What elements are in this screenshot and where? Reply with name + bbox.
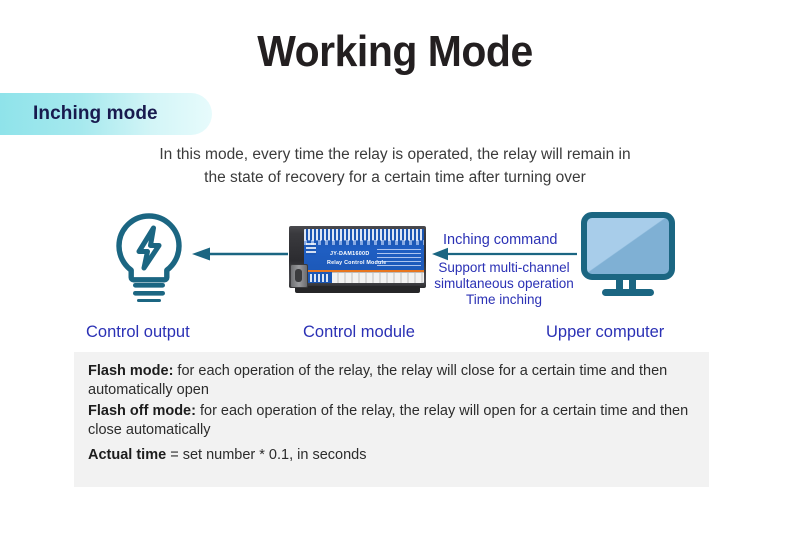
module-board: JY-DAM1600D Relay Control Module <box>304 229 424 283</box>
mode-description-line-1: In this mode, every time the relay is op… <box>95 143 695 166</box>
mode-details-box: Flash mode: for each operation of the re… <box>74 352 709 487</box>
slide-root: Working Mode Inching mode In this mode, … <box>0 0 790 552</box>
module-model-text: JY-DAM1600D <box>330 251 370 257</box>
flash-mode-text: for each operation of the relay, the rel… <box>88 363 667 398</box>
page-title: Working Mode <box>28 27 763 77</box>
module-db9-connector <box>290 264 308 288</box>
inching-command-details: Support multi-channel simultaneous opera… <box>428 260 580 308</box>
arrow-module-to-output-icon <box>192 246 288 267</box>
actual-time-text: = set number * 0.1, in seconds <box>166 447 366 463</box>
command-detail-line-1: Support multi-channel <box>428 260 580 276</box>
mode-description: In this mode, every time the relay is op… <box>95 143 695 189</box>
actual-time-title: Actual time <box>88 447 166 463</box>
flash-off-mode-paragraph: Flash off mode: for each operation of th… <box>88 402 698 440</box>
module-chassis-base <box>295 286 420 293</box>
module-left-pins <box>306 243 316 255</box>
flash-off-mode-title: Flash off mode: <box>88 403 196 419</box>
mode-badge: Inching mode <box>0 93 212 135</box>
caption-upper-computer: Upper computer <box>546 323 664 342</box>
flash-mode-title: Flash mode: <box>88 363 173 379</box>
lightbulb-icon <box>112 210 186 307</box>
monitor-icon <box>580 210 676 307</box>
mode-badge-label: Inching mode <box>33 103 158 125</box>
mode-description-line-2: the state of recovery for a certain time… <box>95 166 695 189</box>
flash-mode-paragraph: Flash mode: for each operation of the re… <box>88 362 698 400</box>
module-spec-block <box>377 249 421 269</box>
command-detail-line-2: simultaneous operation <box>428 276 580 292</box>
module-top-labels <box>304 240 424 245</box>
actual-time-paragraph: Actual time = set number * 0.1, in secon… <box>88 446 698 465</box>
module-bottom-pins <box>306 274 330 282</box>
module-bottom-terminals <box>332 272 424 283</box>
command-detail-line-3: Time inching <box>428 292 580 308</box>
caption-control-module: Control module <box>303 323 415 342</box>
relay-control-module-image: JY-DAM1600D Relay Control Module <box>289 226 426 294</box>
caption-control-output: Control output <box>86 323 190 342</box>
